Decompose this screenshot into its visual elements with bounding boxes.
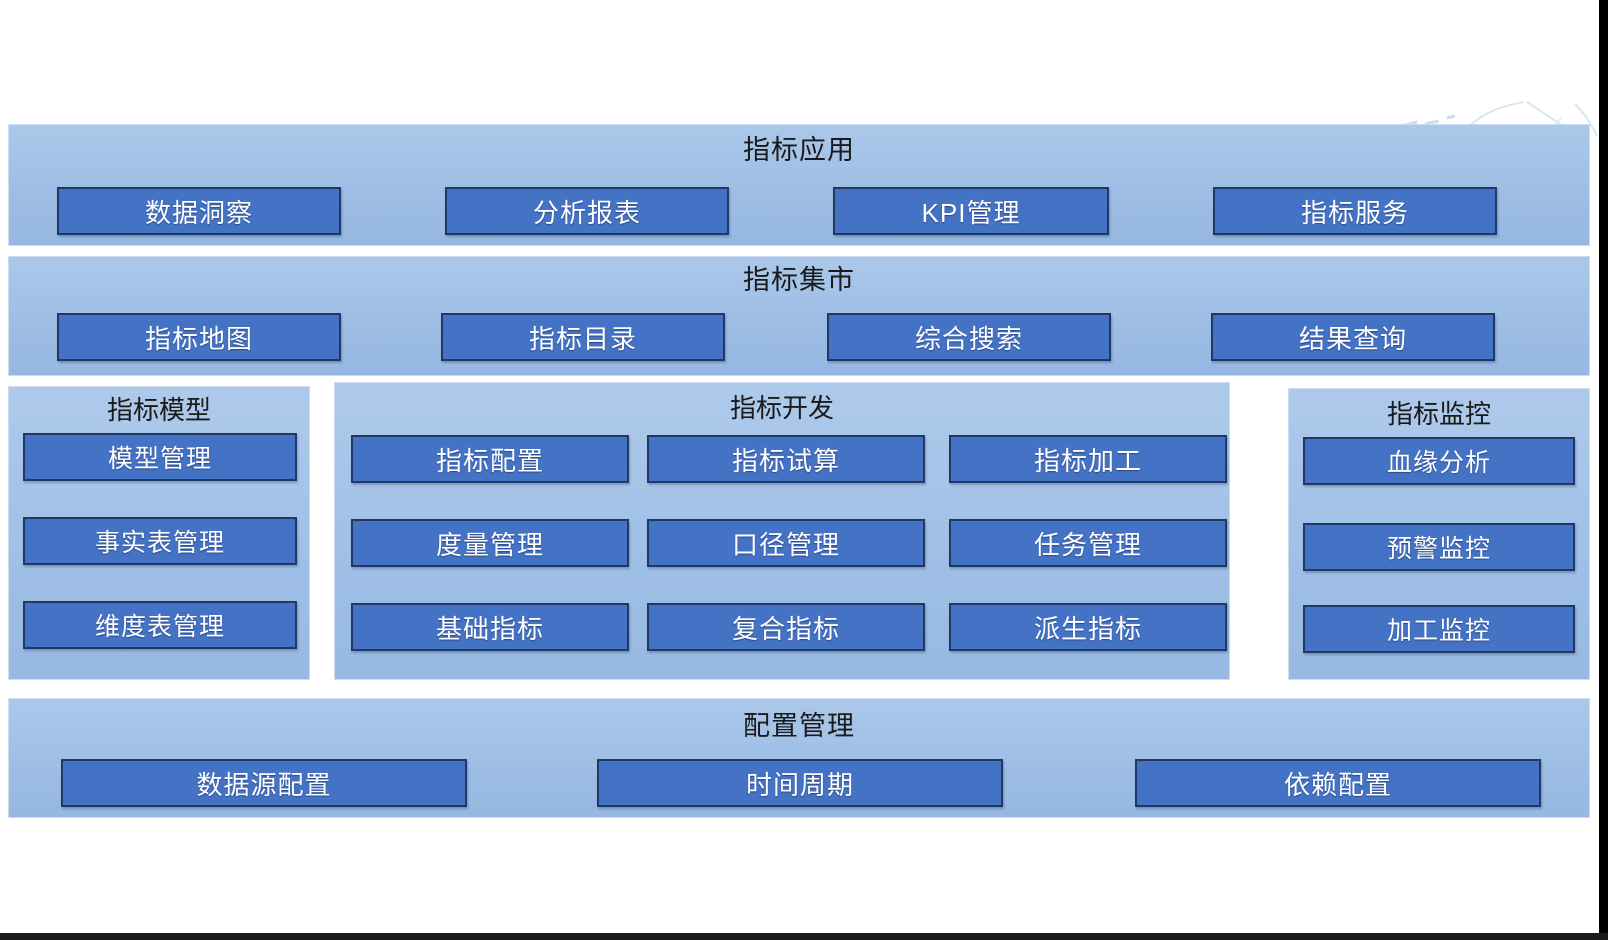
button-model-management[interactable]: 模型管理 bbox=[23, 433, 297, 481]
button-indicator-catalog[interactable]: 指标目录 bbox=[441, 313, 725, 361]
button-datasource-configuration[interactable]: 数据源配置 bbox=[61, 759, 467, 807]
band-title-configuration-management: 配置管理 bbox=[9, 713, 1589, 740]
panel-title-indicator-development: 指标开发 bbox=[335, 395, 1229, 421]
panel-title-indicator-model: 指标模型 bbox=[9, 397, 309, 423]
button-dimension-table-management[interactable]: 维度表管理 bbox=[23, 601, 297, 649]
button-indicator-trial-calculation[interactable]: 指标试算 bbox=[647, 435, 925, 483]
button-indicator-processing[interactable]: 指标加工 bbox=[949, 435, 1227, 483]
button-measure-management[interactable]: 度量管理 bbox=[351, 519, 629, 567]
panel-title-indicator-monitoring: 指标监控 bbox=[1289, 401, 1589, 427]
band-title-indicator-market: 指标集市 bbox=[9, 267, 1589, 294]
panel-indicator-monitoring: 指标监控 血缘分析 预警监控 加工监控 bbox=[1288, 388, 1590, 680]
button-dependency-configuration[interactable]: 依赖配置 bbox=[1135, 759, 1541, 807]
button-caliber-management[interactable]: 口径管理 bbox=[647, 519, 925, 567]
button-alert-monitoring[interactable]: 预警监控 bbox=[1303, 523, 1575, 571]
button-comprehensive-search[interactable]: 综合搜索 bbox=[827, 313, 1111, 361]
button-data-insight[interactable]: 数据洞察 bbox=[57, 187, 341, 235]
button-fact-table-management[interactable]: 事实表管理 bbox=[23, 517, 297, 565]
band-indicator-market: 指标集市 指标地图 指标目录 综合搜索 结果查询 bbox=[8, 256, 1590, 376]
panel-indicator-model: 指标模型 模型管理 事实表管理 维度表管理 bbox=[8, 386, 310, 680]
panel-indicator-development: 指标开发 指标配置 指标试算 指标加工 度量管理 口径管理 任务管理 基础指标 … bbox=[334, 382, 1230, 680]
button-basic-indicator[interactable]: 基础指标 bbox=[351, 603, 629, 651]
slide-edge-bottom bbox=[0, 933, 1608, 940]
button-result-query[interactable]: 结果查询 bbox=[1211, 313, 1495, 361]
slide-edge-right bbox=[1599, 0, 1608, 940]
button-composite-indicator[interactable]: 复合指标 bbox=[647, 603, 925, 651]
button-kpi-management[interactable]: KPI管理 bbox=[833, 187, 1109, 235]
button-processing-monitoring[interactable]: 加工监控 bbox=[1303, 605, 1575, 653]
button-analysis-report[interactable]: 分析报表 bbox=[445, 187, 729, 235]
button-indicator-configuration[interactable]: 指标配置 bbox=[351, 435, 629, 483]
band-title-indicator-application: 指标应用 bbox=[9, 137, 1589, 164]
button-derived-indicator[interactable]: 派生指标 bbox=[949, 603, 1227, 651]
button-time-period[interactable]: 时间周期 bbox=[597, 759, 1003, 807]
diagram-canvas: 指标应用 数据洞察 分析报表 KPI管理 指标服务 指标集市 指标地图 指标目录… bbox=[0, 0, 1608, 940]
button-indicator-service[interactable]: 指标服务 bbox=[1213, 187, 1497, 235]
button-indicator-map[interactable]: 指标地图 bbox=[57, 313, 341, 361]
band-configuration-management: 配置管理 数据源配置 时间周期 依赖配置 bbox=[8, 698, 1590, 818]
button-lineage-analysis[interactable]: 血缘分析 bbox=[1303, 437, 1575, 485]
band-indicator-application: 指标应用 数据洞察 分析报表 KPI管理 指标服务 bbox=[8, 124, 1590, 246]
button-task-management[interactable]: 任务管理 bbox=[949, 519, 1227, 567]
